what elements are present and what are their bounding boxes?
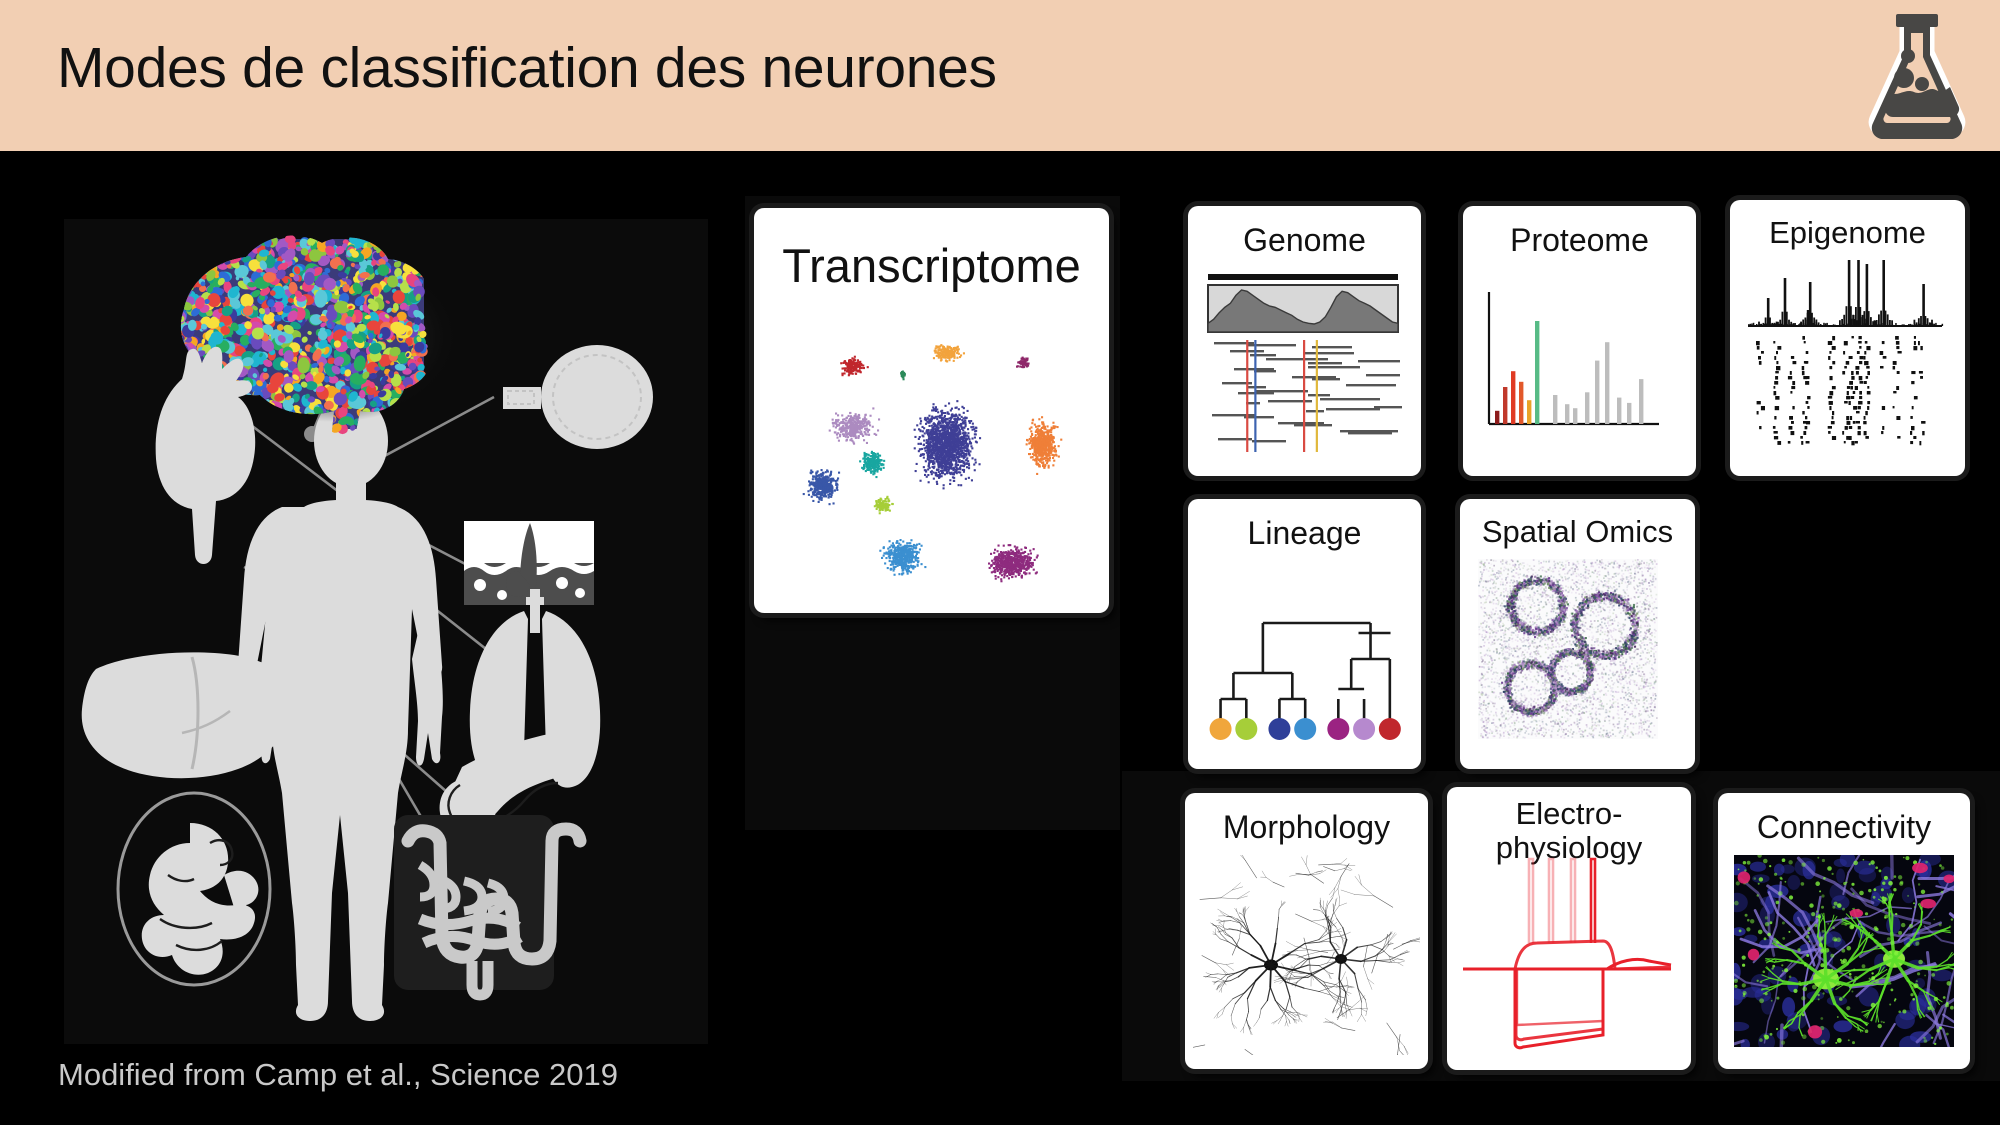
card-proteome[interactable]: Proteome [1463,206,1696,476]
spatial-omics-image [1478,559,1658,739]
card-genome[interactable]: Genome [1188,206,1421,476]
flask-icon [1852,6,1982,144]
card-title-ephys-line1: Electro- [1447,797,1691,831]
card-title-genome: Genome [1188,222,1421,259]
connectivity-image [1734,855,1954,1047]
slide-canvas: Modes de classification des neurones [0,0,2000,1125]
eye-organ [503,345,653,449]
figure-caption: Modified from Camp et al., Science 2019 [58,1057,618,1093]
card-spatial-omics[interactable]: Spatial Omics [1460,499,1695,769]
ephys-trace-plot [1457,857,1681,1057]
body-organs-figure [64,219,708,1044]
proteome-bar-chart [1481,274,1678,454]
card-title-proteome: Proteome [1463,222,1696,259]
card-connectivity[interactable]: Connectivity [1718,793,1970,1069]
transcriptome-scatter-plot [774,304,1090,600]
morphology-image [1193,855,1420,1055]
card-electrophysiology[interactable]: Electro- physiology [1447,787,1691,1070]
intestine-organ [394,815,580,995]
skin-organ [464,521,594,605]
lineage-dendrogram [1202,571,1407,751]
fetus-organ [118,793,270,985]
liver-organ [82,652,292,778]
card-epigenome[interactable]: Epigenome [1730,200,1965,476]
page-title: Modes de classification des neurones [57,33,997,103]
epigenome-peak-track [1742,260,1953,460]
card-title-transcriptome: Transcriptome [754,238,1109,293]
card-morphology[interactable]: Morphology [1185,793,1428,1069]
card-title-morphology: Morphology [1185,809,1428,846]
slide-header: Modes de classification des neurones [0,0,2000,151]
header-divider [0,151,2000,157]
card-lineage[interactable]: Lineage [1188,499,1421,769]
card-title-lineage: Lineage [1188,515,1421,552]
card-title-spatial-omics: Spatial Omics [1460,514,1695,550]
card-title-electrophysiology: Electro- physiology [1447,797,1691,865]
genome-coverage-track [1204,272,1405,462]
card-title-connectivity: Connectivity [1718,809,1970,846]
card-title-epigenome: Epigenome [1730,215,1965,251]
card-transcriptome[interactable]: Transcriptome [754,208,1109,613]
